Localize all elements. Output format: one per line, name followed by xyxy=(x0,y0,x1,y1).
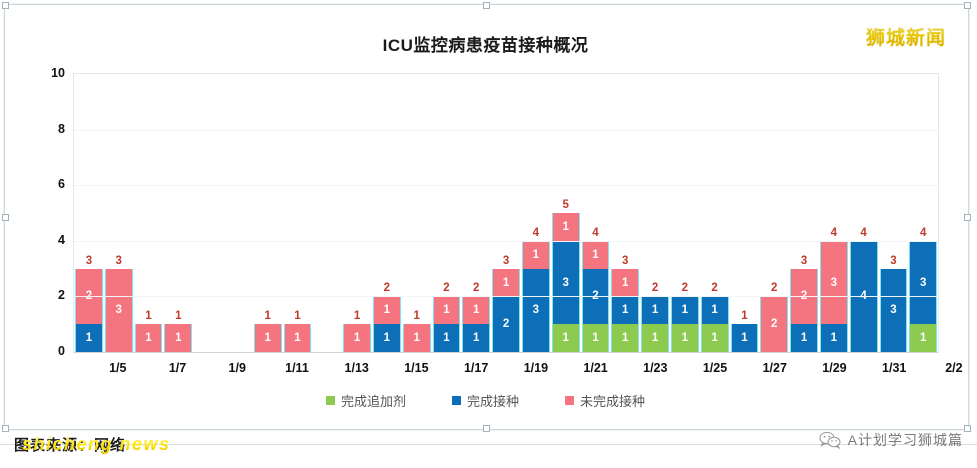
bar-stack[interactable]: 3111 xyxy=(611,269,639,352)
x-axis-tick: 1/9 xyxy=(229,361,246,375)
legend-item-boosted[interactable]: 完成追加剂 xyxy=(326,391,406,410)
bar-total-label: 2 xyxy=(671,281,699,295)
bar-slot[interactable]: 11 xyxy=(253,74,283,352)
bar-slot[interactable] xyxy=(223,74,253,352)
wechat-attribution: A计划学习狮城篇 xyxy=(819,430,963,450)
bar-segment-vaccinated[interactable]: 3 xyxy=(552,241,580,324)
x-axis-tick: 1/19 xyxy=(524,361,548,375)
bar-segment-boosted[interactable]: 1 xyxy=(671,324,699,352)
legend-label: 完成追加剂 xyxy=(341,391,406,410)
x-axis-tick: 1/15 xyxy=(404,361,428,375)
y-axis-tick: 6 xyxy=(58,177,65,191)
y-axis-tick: 4 xyxy=(58,233,65,247)
bar-segment-vaccinated[interactable]: 1 xyxy=(641,296,669,324)
bar-total-label: 1 xyxy=(343,309,371,323)
bar-segment-vaccinated[interactable]: 1 xyxy=(671,296,699,324)
bar-total-label: 3 xyxy=(105,254,133,268)
bar-segment-vaccinated[interactable]: 1 xyxy=(433,324,461,352)
bar-total-label: 3 xyxy=(611,254,639,268)
bar-total-label: 2 xyxy=(760,281,788,295)
resize-handle-tm[interactable] xyxy=(483,2,490,9)
bar-stack[interactable]: 11 xyxy=(164,324,192,352)
bar-total-label: 2 xyxy=(701,281,729,295)
bar-stack[interactable]: 33 xyxy=(105,269,133,352)
bar-slot[interactable]: 321 xyxy=(74,74,104,352)
bar-slot[interactable]: 11 xyxy=(134,74,164,352)
plot-area-wrapper: 0246810 32133111111111121111211211312413… xyxy=(15,68,956,358)
bar-stack[interactable]: 11 xyxy=(343,324,371,352)
bar-slot[interactable]: 11 xyxy=(402,74,432,352)
wechat-icon xyxy=(819,431,841,449)
bar-slot[interactable]: 211 xyxy=(670,74,700,352)
x-axis-tick: 1/7 xyxy=(169,361,186,375)
y-axis-tick: 2 xyxy=(58,288,65,302)
bar-total-label: 4 xyxy=(522,226,550,240)
source-note-en: shicheng news xyxy=(22,434,171,455)
bar-segment-vaccinated[interactable]: 1 xyxy=(75,324,103,352)
bar-segment-unvaccinated[interactable]: 1 xyxy=(492,269,520,297)
bar-total-label: 2 xyxy=(641,281,669,295)
bar-stack[interactable]: 11 xyxy=(284,324,312,352)
y-axis: 0246810 xyxy=(15,68,73,358)
bar-segment-boosted[interactable]: 1 xyxy=(701,324,729,352)
legend-item-vaccinated[interactable]: 完成接种 xyxy=(452,391,519,410)
x-axis-tick: 1/25 xyxy=(703,361,727,375)
bar-group: 3213311111111112111121121131241351314121… xyxy=(74,74,938,352)
bar-segment-unvaccinated[interactable]: 1 xyxy=(135,324,163,352)
x-axis: 1/51/71/91/111/131/151/171/191/211/231/2… xyxy=(73,361,939,383)
bar-segment-unvaccinated[interactable]: 1 xyxy=(611,269,639,297)
x-axis-tick: 1/21 xyxy=(583,361,607,375)
bar-segment-boosted[interactable]: 1 xyxy=(552,324,580,352)
x-axis-tick: 2/2 xyxy=(945,361,962,375)
spreadsheet-frame: ICU监控病患疫苗接种概况 狮城新闻 0246810 3213311111111… xyxy=(4,4,969,430)
bar-segment-vaccinated[interactable]: 1 xyxy=(701,296,729,324)
legend-swatch-icon xyxy=(565,396,574,405)
legend-item-unvaccinated[interactable]: 未完成接种 xyxy=(565,391,645,410)
resize-handle-tr[interactable] xyxy=(964,2,971,9)
bar-slot[interactable]: 11 xyxy=(730,74,760,352)
bar-segment-unvaccinated[interactable]: 2 xyxy=(760,296,788,352)
bar-total-label: 4 xyxy=(850,226,878,240)
bar-total-label: 1 xyxy=(135,309,163,323)
bar-stack[interactable]: 321 xyxy=(790,269,818,352)
bar-slot[interactable]: 211 xyxy=(432,74,462,352)
bar-total-label: 2 xyxy=(462,281,490,295)
bar-stack[interactable]: 11 xyxy=(403,324,431,352)
bar-stack[interactable]: 312 xyxy=(492,269,520,352)
bar-segment-vaccinated[interactable]: 3 xyxy=(880,269,908,352)
bar-stack[interactable]: 321 xyxy=(75,269,103,352)
wechat-account-name: A计划学习狮城篇 xyxy=(848,430,963,450)
bar-slot[interactable] xyxy=(312,74,342,352)
bar-stack[interactable]: 211 xyxy=(671,296,699,352)
x-axis-tick: 1/23 xyxy=(643,361,667,375)
bar-total-label: 3 xyxy=(880,254,908,268)
bar-segment-unvaccinated[interactable]: 3 xyxy=(105,269,133,352)
bar-segment-unvaccinated[interactable]: 1 xyxy=(373,296,401,324)
bar-stack[interactable]: 22 xyxy=(760,296,788,352)
bar-stack[interactable]: 11 xyxy=(254,324,282,352)
bar-slot[interactable]: 312 xyxy=(491,74,521,352)
bar-stack[interactable]: 33 xyxy=(880,269,908,352)
bar-slot[interactable]: 11 xyxy=(283,74,313,352)
x-axis-tick: 1/31 xyxy=(882,361,906,375)
gridline xyxy=(74,130,938,131)
bar-total-label: 3 xyxy=(790,254,818,268)
bar-segment-unvaccinated[interactable]: 1 xyxy=(164,324,192,352)
bar-stack[interactable]: 211 xyxy=(701,296,729,352)
bar-total-label: 1 xyxy=(164,309,192,323)
bar-slot[interactable]: 211 xyxy=(640,74,670,352)
bar-total-label: 5 xyxy=(552,198,580,212)
resize-handle-tl[interactable] xyxy=(2,2,9,9)
bar-segment-boosted[interactable]: 1 xyxy=(909,324,937,352)
plot-area: 3213311111111112111121121131241351314121… xyxy=(73,73,939,353)
bar-stack[interactable]: 211 xyxy=(433,296,461,352)
x-axis-tick: 1/11 xyxy=(285,361,309,375)
bar-total-label: 4 xyxy=(909,226,937,240)
bar-slot[interactable]: 211 xyxy=(700,74,730,352)
bar-stack[interactable]: 211 xyxy=(462,296,490,352)
bar-total-label: 4 xyxy=(820,226,848,240)
gridline xyxy=(74,185,938,186)
bar-stack[interactable]: 11 xyxy=(731,324,759,352)
screenshot-root: ICU监控病患疫苗接种概况 狮城新闻 0246810 3213311111111… xyxy=(0,0,977,468)
bar-segment-unvaccinated[interactable]: 1 xyxy=(433,296,461,324)
bar-slot[interactable]: 3111 xyxy=(610,74,640,352)
bar-segment-boosted[interactable]: 1 xyxy=(611,324,639,352)
bar-slot[interactable]: 44 xyxy=(849,74,879,352)
resize-handle-br[interactable] xyxy=(964,425,971,432)
bar-slot[interactable]: 321 xyxy=(789,74,819,352)
resize-handle-bm[interactable] xyxy=(483,425,490,432)
bar-segment-vaccinated[interactable]: 3 xyxy=(522,269,550,352)
y-axis-tick: 8 xyxy=(58,122,65,136)
bar-segment-unvaccinated[interactable]: 1 xyxy=(462,296,490,324)
y-axis-tick: 10 xyxy=(51,66,65,80)
bar-total-label: 1 xyxy=(284,309,312,323)
bar-total-label: 3 xyxy=(75,254,103,268)
x-axis-tick: 1/13 xyxy=(345,361,369,375)
bar-slot[interactable]: 431 xyxy=(819,74,849,352)
bar-total-label: 2 xyxy=(373,281,401,295)
bar-slot[interactable]: 22 xyxy=(759,74,789,352)
legend-swatch-icon xyxy=(452,396,461,405)
bar-segment-boosted[interactable]: 1 xyxy=(641,324,669,352)
bar-segment-vaccinated[interactable]: 1 xyxy=(462,324,490,352)
bar-slot[interactable]: 211 xyxy=(372,74,402,352)
bar-slot[interactable]: 413 xyxy=(521,74,551,352)
chart-legend: 完成追加剂完成接种未完成接种 xyxy=(15,391,956,410)
x-axis-tick: 1/5 xyxy=(109,361,126,375)
bar-total-label: 1 xyxy=(403,309,431,323)
bar-total-label: 1 xyxy=(731,309,759,323)
bar-segment-unvaccinated[interactable]: 1 xyxy=(403,324,431,352)
bar-slot[interactable]: 431 xyxy=(908,74,938,352)
bar-slot[interactable]: 33 xyxy=(104,74,134,352)
bar-segment-vaccinated[interactable]: 1 xyxy=(790,324,818,352)
gridline xyxy=(74,296,938,297)
bar-stack[interactable]: 211 xyxy=(373,296,401,352)
x-axis-tick: 1/29 xyxy=(822,361,846,375)
x-axis-tick: 1/17 xyxy=(464,361,488,375)
resize-handle-ml[interactable] xyxy=(2,214,9,221)
bar-segment-unvaccinated[interactable]: 1 xyxy=(343,324,371,352)
bar-segment-unvaccinated[interactable]: 1 xyxy=(582,241,610,269)
bar-total-label: 4 xyxy=(582,226,610,240)
chart-container: ICU监控病患疫苗接种概况 狮城新闻 0246810 3213311111111… xyxy=(15,13,956,417)
bar-segment-vaccinated[interactable]: 3 xyxy=(909,241,937,324)
bar-slot[interactable]: 33 xyxy=(879,74,909,352)
bar-stack[interactable]: 5131 xyxy=(552,213,580,352)
bar-total-label: 1 xyxy=(254,309,282,323)
resize-handle-bl[interactable] xyxy=(2,425,9,432)
bar-segment-vaccinated[interactable]: 1 xyxy=(611,296,639,324)
bar-slot[interactable]: 11 xyxy=(163,74,193,352)
bar-segment-unvaccinated[interactable]: 1 xyxy=(284,324,312,352)
bar-slot[interactable]: 4121 xyxy=(581,74,611,352)
y-axis-tick: 0 xyxy=(58,344,65,358)
bar-segment-unvaccinated[interactable]: 3 xyxy=(820,241,848,324)
bar-slot[interactable]: 11 xyxy=(342,74,372,352)
bar-stack[interactable]: 11 xyxy=(135,324,163,352)
bar-slot[interactable]: 5131 xyxy=(551,74,581,352)
bar-segment-vaccinated[interactable]: 1 xyxy=(373,324,401,352)
bar-total-label: 2 xyxy=(433,281,461,295)
chart-title: ICU监控病患疫苗接种概况 xyxy=(15,31,956,56)
bar-slot[interactable]: 211 xyxy=(461,74,491,352)
bar-stack[interactable]: 211 xyxy=(641,296,669,352)
bar-slot[interactable] xyxy=(193,74,223,352)
resize-handle-mr[interactable] xyxy=(964,214,971,221)
bar-segment-unvaccinated[interactable]: 1 xyxy=(522,241,550,269)
gridline xyxy=(74,241,938,242)
watermark-logo: 狮城新闻 xyxy=(866,23,946,50)
bar-segment-unvaccinated[interactable]: 1 xyxy=(254,324,282,352)
bar-segment-unvaccinated[interactable]: 1 xyxy=(552,213,580,241)
x-axis-tick: 1/27 xyxy=(763,361,787,375)
bar-segment-vaccinated[interactable]: 1 xyxy=(820,324,848,352)
legend-label: 未完成接种 xyxy=(580,391,645,410)
legend-swatch-icon xyxy=(326,396,335,405)
bar-segment-boosted[interactable]: 1 xyxy=(582,324,610,352)
bar-total-label: 3 xyxy=(492,254,520,268)
bar-segment-vaccinated[interactable]: 1 xyxy=(731,324,759,352)
bar-segment-vaccinated[interactable]: 2 xyxy=(492,296,520,352)
legend-label: 完成接种 xyxy=(467,391,519,410)
